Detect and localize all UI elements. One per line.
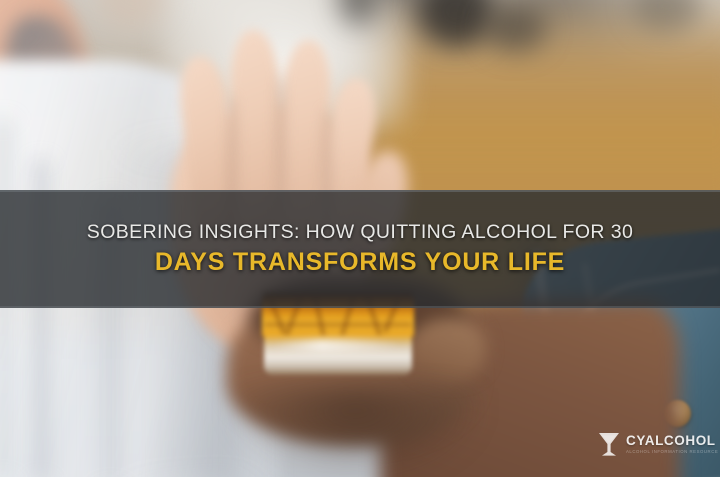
offering-hand-shadow xyxy=(230,388,480,477)
headline-line-2: Days Transforms Your Life xyxy=(155,248,565,276)
background-bokeh-shape xyxy=(484,4,546,52)
headline-block: Sobering Insights: How Quitting Alcohol … xyxy=(0,190,720,308)
hero-banner-image: Sobering Insights: How Quitting Alcohol … xyxy=(0,0,720,477)
watermark-text: CYALCOHOL ALCOHOL INFORMATION RESOURCE xyxy=(626,434,718,455)
watermark-tagline: ALCOHOL INFORMATION RESOURCE xyxy=(626,450,718,454)
glass-highlight xyxy=(270,339,398,351)
offering-hand-thumb xyxy=(408,318,486,380)
site-watermark: CYALCOHOL ALCOHOL INFORMATION RESOURCE xyxy=(596,430,718,458)
watermark-brand: CYALCOHOL xyxy=(626,434,718,448)
crystal-facet-line xyxy=(264,323,412,326)
martini-glass-icon xyxy=(596,430,622,458)
headline-line-1: Sobering Insights: How Quitting Alcohol … xyxy=(87,222,633,244)
